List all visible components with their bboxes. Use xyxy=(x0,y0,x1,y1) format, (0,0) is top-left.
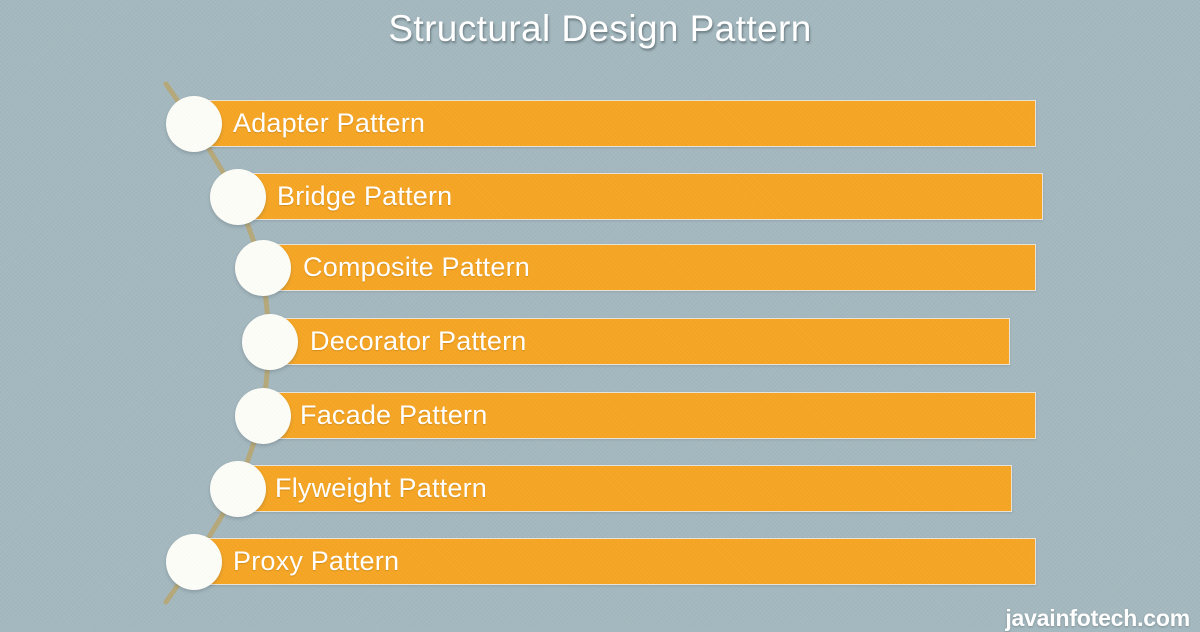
pattern-label: Facade Pattern xyxy=(300,392,487,439)
node-bullet-icon xyxy=(210,169,266,225)
page-title: Structural Design Pattern xyxy=(0,8,1200,50)
node-bullet-icon xyxy=(235,388,291,444)
pattern-label: Bridge Pattern xyxy=(277,173,452,220)
pattern-label: Decorator Pattern xyxy=(310,318,527,365)
pattern-label: Proxy Pattern xyxy=(233,538,399,585)
node-bullet-icon xyxy=(210,461,266,517)
diagram-stage: Adapter PatternBridge PatternComposite P… xyxy=(0,0,1200,628)
node-bullet-icon xyxy=(166,534,222,590)
node-bullet-icon xyxy=(242,314,298,370)
pattern-label: Composite Pattern xyxy=(303,244,530,291)
pattern-label: Flyweight Pattern xyxy=(275,465,487,512)
pattern-label: Adapter Pattern xyxy=(233,100,425,147)
node-bullet-icon xyxy=(166,96,222,152)
connector-line xyxy=(0,0,1200,628)
node-bullet-icon xyxy=(235,240,291,296)
